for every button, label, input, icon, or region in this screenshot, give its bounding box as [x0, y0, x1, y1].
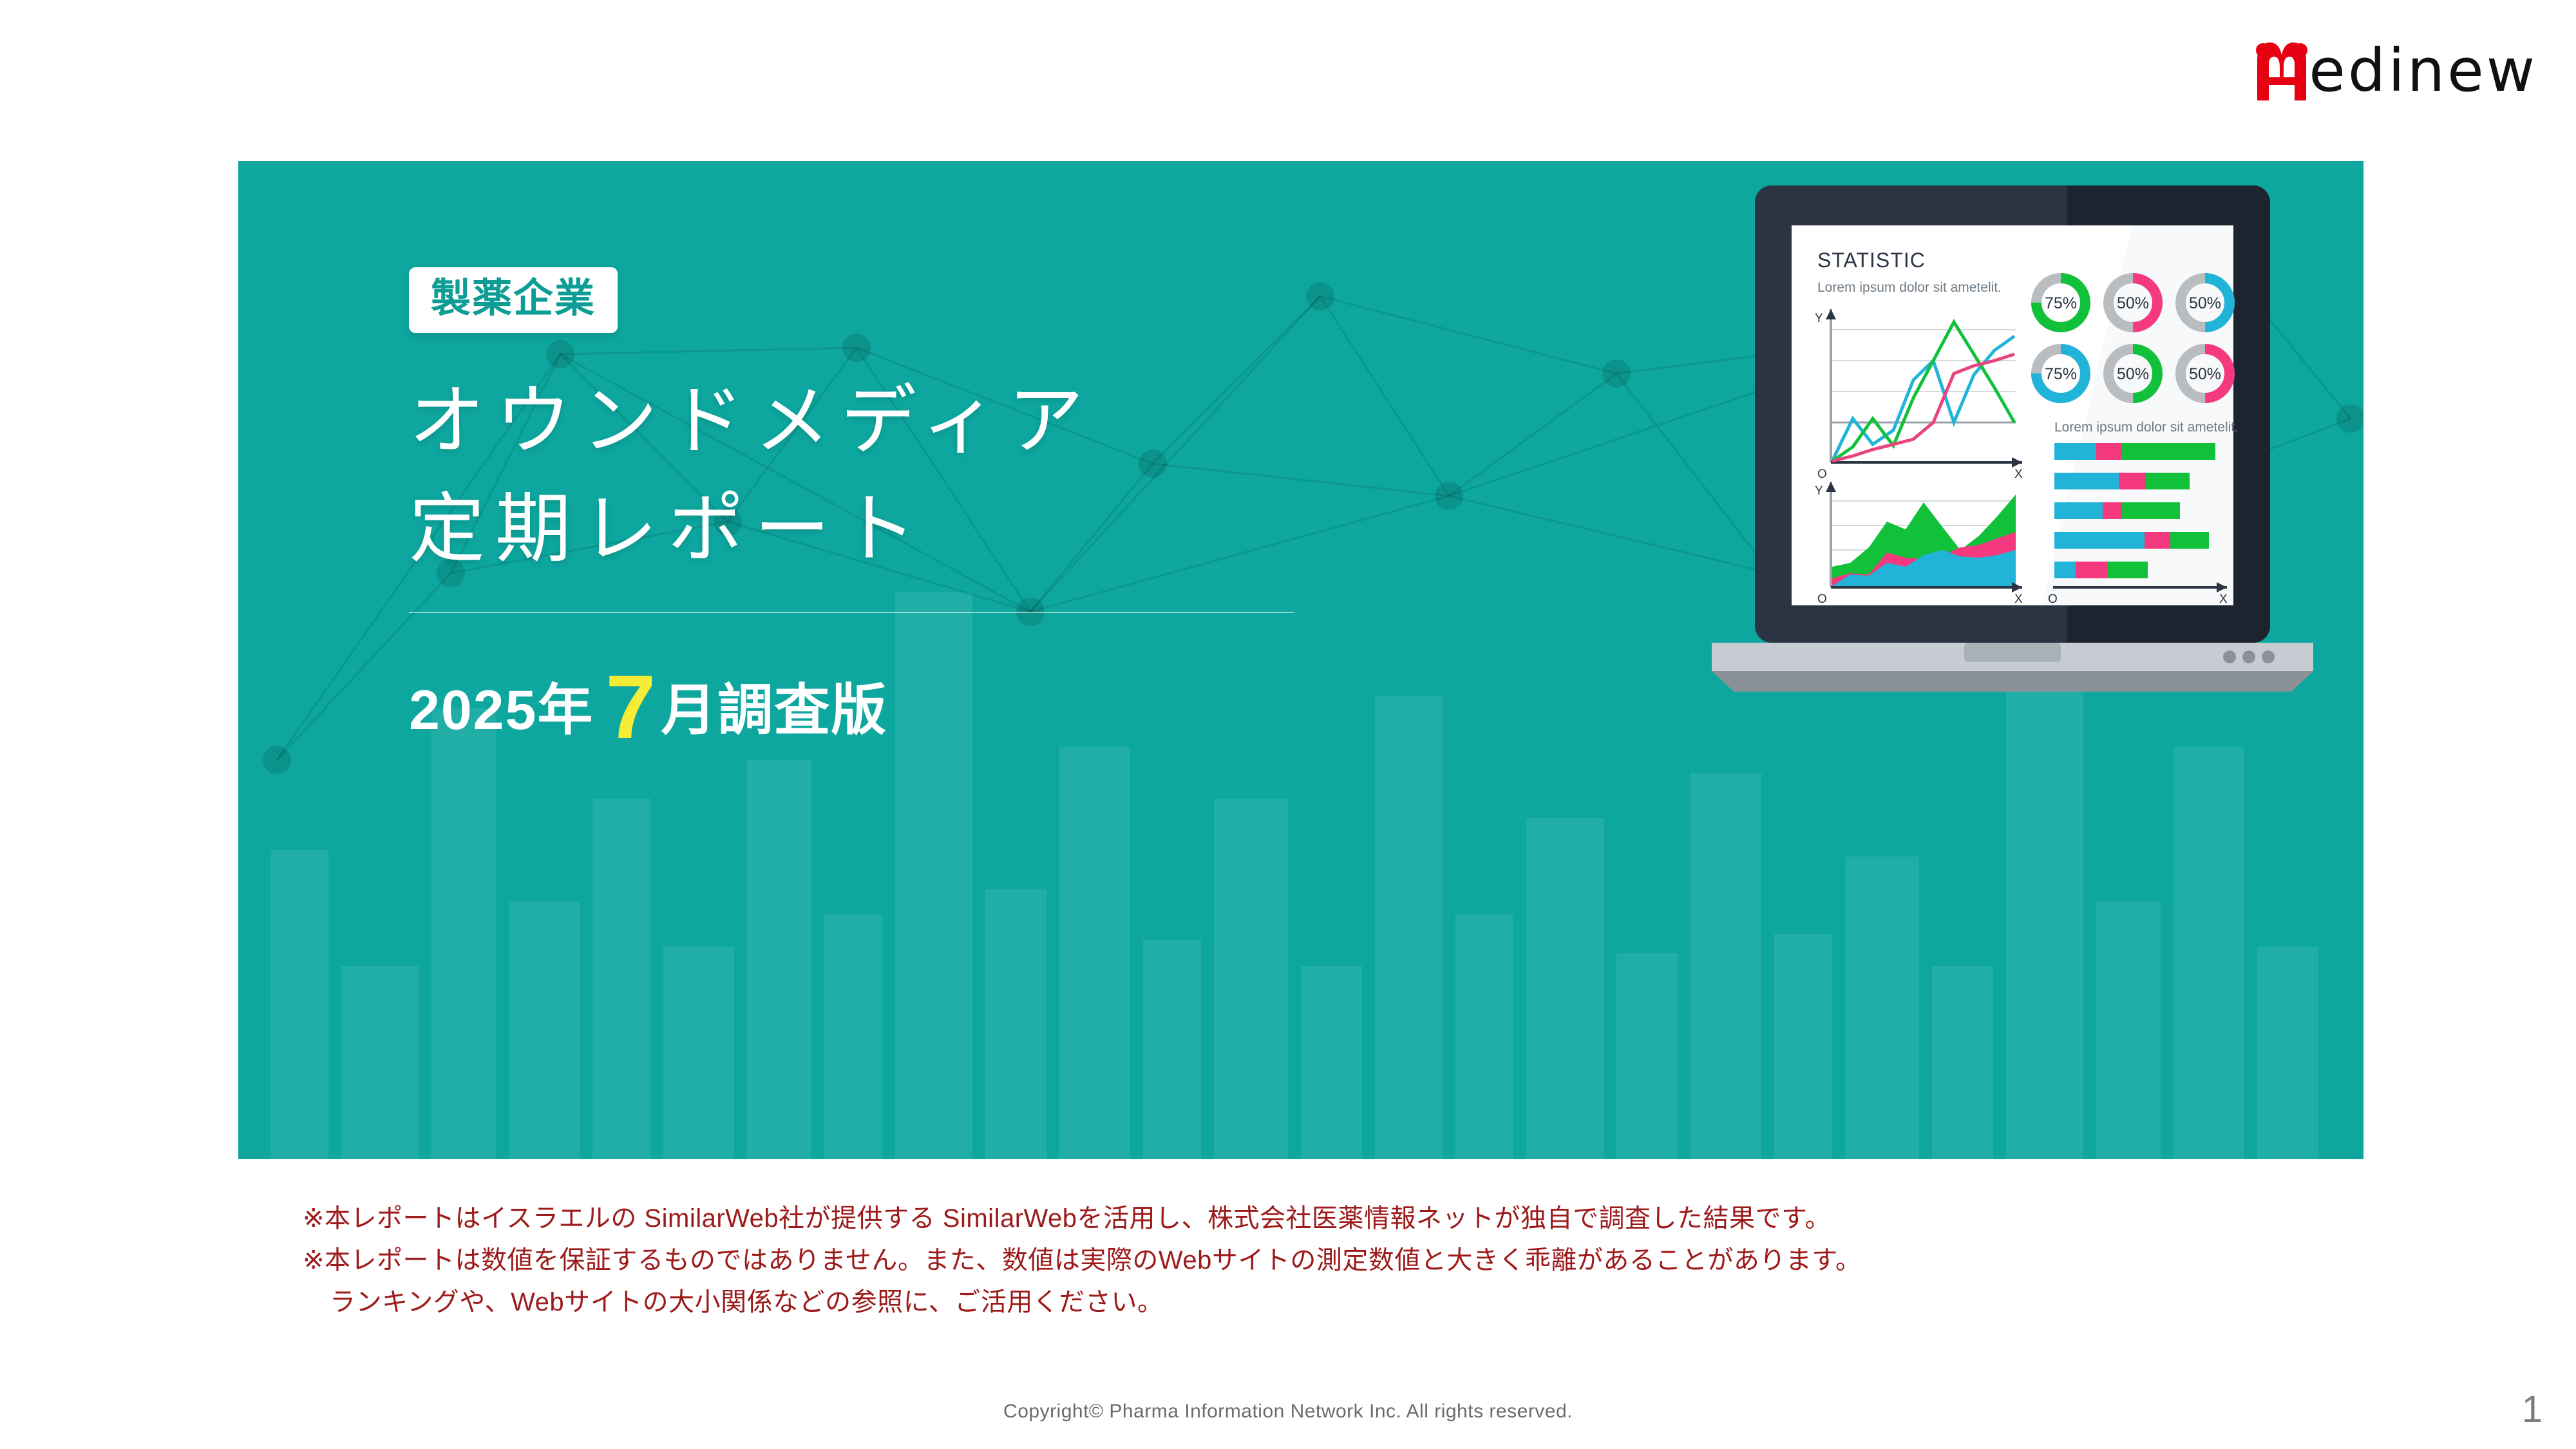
disclaimer-line-1: ※本レポートはイスラエルの SimilarWeb社が提供する SimilarWe…: [303, 1198, 2363, 1240]
laptop-dashboard-illustration: STATISTIC Lorem ipsum dolor sit ametelit…: [1642, 161, 2363, 869]
hero-background-bar: [1526, 818, 1604, 1159]
disclaimer-line-3: ランキングや、Webサイトの大小関係などの参照に、ご活用ください。: [303, 1282, 2363, 1323]
hero-text-block: 製薬企業 オウンドメディア 定期レポート 2025年 7 月調査版: [409, 267, 1294, 743]
svg-text:X: X: [2014, 468, 2023, 481]
svg-text:O: O: [2048, 592, 2058, 606]
hero-title: オウンドメディア 定期レポート: [409, 368, 1294, 583]
hero-background-bar: [1932, 966, 1993, 1159]
hero-background-bar: [1143, 940, 1201, 1159]
hero-title-line2: 定期レポート: [409, 476, 1294, 584]
svg-text:Lorem ipsum dolor sit ametelit: Lorem ipsum dolor sit ametelit.: [1817, 280, 2002, 295]
medinew-m-logo-icon: [2251, 39, 2313, 103]
svg-text:75%: 75%: [2045, 294, 2077, 312]
survey-date-suffix: 月調査版: [661, 683, 887, 738]
svg-text:50%: 50%: [2189, 294, 2221, 312]
survey-date: 2025年 7 月調査版: [409, 653, 1294, 743]
hero-banner: 製薬企業 オウンドメディア 定期レポート 2025年 7 月調査版 STATIS…: [238, 161, 2363, 1159]
hero-background-bar: [509, 902, 580, 1159]
hero-background-bar: [747, 760, 811, 1159]
hero-background-bar: [1774, 934, 1832, 1159]
hero-background-bar: [824, 914, 882, 1159]
disclaimer-note: ※本レポートはイスラエルの SimilarWeb社が提供する SimilarWe…: [303, 1198, 2363, 1323]
hero-background-bar: [1845, 857, 1919, 1159]
svg-text:50%: 50%: [2189, 365, 2221, 383]
hero-title-line1: オウンドメディア: [409, 379, 1094, 464]
svg-text:X: X: [2219, 592, 2228, 606]
hero-background-bar: [1301, 966, 1362, 1159]
survey-date-month-number: 7: [605, 662, 657, 752]
category-badge: 製薬企業: [409, 267, 618, 333]
hero-background-bar: [592, 799, 650, 1159]
hero-background-bar: [985, 889, 1046, 1159]
survey-date-year: 2025年: [409, 683, 594, 738]
brand-wordmark: edinew: [2309, 41, 2537, 100]
hero-background-bar: [1059, 747, 1130, 1159]
svg-text:STATISTIC: STATISTIC: [1817, 249, 1926, 272]
hero-background-bar: [1616, 953, 1678, 1159]
svg-text:O: O: [1817, 468, 1827, 481]
disclaimer-line-2: ※本レポートは数値を保証するものではありません。また、数値は実際のWebサイトの…: [303, 1240, 2363, 1282]
title-divider: [409, 612, 1294, 613]
svg-text:50%: 50%: [2117, 365, 2149, 383]
svg-text:Y: Y: [1815, 312, 1823, 325]
hero-background-bar: [2257, 947, 2318, 1159]
hero-background-bar: [1214, 799, 1288, 1159]
copyright-text: Copyright© Pharma Information Network In…: [0, 1401, 2576, 1423]
brand-logo: edinew: [2251, 32, 2537, 109]
page-number: 1: [2522, 1388, 2543, 1431]
svg-text:75%: 75%: [2045, 365, 2077, 383]
hero-background-bar: [663, 947, 734, 1159]
svg-text:Lorem ipsum dolor sit ametelit: Lorem ipsum dolor sit ametelit.: [2054, 420, 2239, 435]
svg-text:Y: Y: [1815, 484, 1823, 498]
hero-background-bar: [270, 850, 328, 1159]
category-badge-label: 製薬企業: [431, 276, 596, 321]
hero-background-bar: [1455, 914, 1513, 1159]
slide-page: edinew: [0, 0, 2576, 1449]
svg-text:50%: 50%: [2117, 294, 2149, 312]
svg-text:X: X: [2014, 592, 2023, 606]
hero-background-bar: [341, 966, 419, 1159]
hero-background-bar: [2096, 902, 2161, 1159]
svg-text:O: O: [1817, 592, 1827, 606]
